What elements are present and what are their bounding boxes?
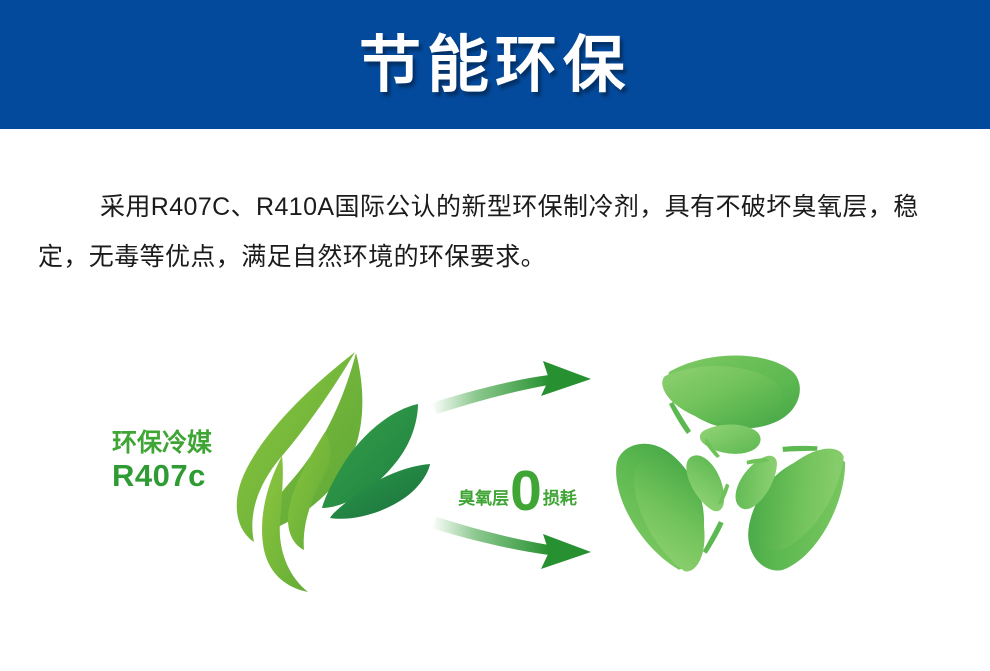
ozone-prefix-label: 臭氧层 xyxy=(458,490,509,507)
body-paragraph: 采用R407C、R410A国际公认的新型环保制冷剂，具有不破坏臭氧层，稳定，无毒… xyxy=(38,182,954,282)
leaf-cluster-icon xyxy=(222,344,432,594)
arrow-right-curved-icon xyxy=(431,361,591,414)
ozone-flow-group: 臭氧层 0 损耗 xyxy=(425,358,610,573)
header-banner: 节能环保 xyxy=(0,0,990,129)
illustration-area: 环保冷媒 R407c xyxy=(0,318,990,598)
ozone-value: 0 xyxy=(510,463,542,520)
arrow-right-curved-icon xyxy=(431,517,591,569)
ozone-suffix-label: 损耗 xyxy=(543,490,577,507)
page-title: 节能环保 xyxy=(359,35,631,97)
recycle-leaves-icon xyxy=(608,340,854,592)
ozone-depletion-readout: 臭氧层 0 损耗 xyxy=(425,462,610,522)
